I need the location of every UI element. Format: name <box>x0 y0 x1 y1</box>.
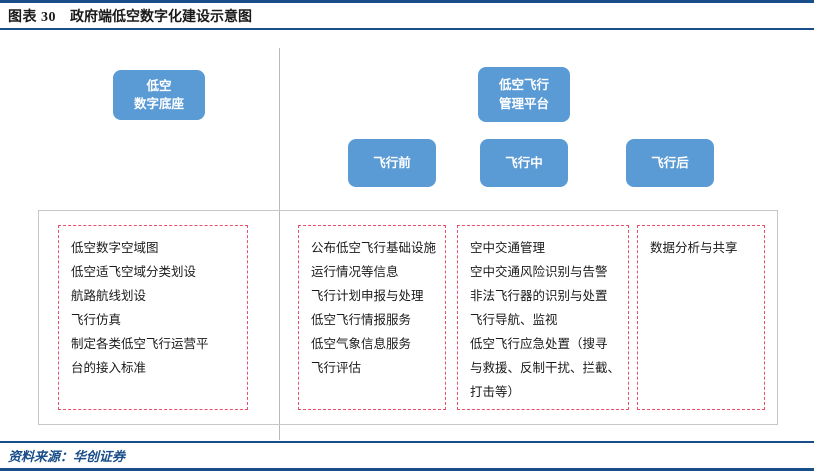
list-item: 低空适飞空域分类划设 <box>71 260 237 284</box>
node-low-altitude-digital-base[interactable]: 低空 数字底座 <box>113 70 205 120</box>
list-item: 运行情况等信息 <box>311 260 435 284</box>
list-item: 打击等） <box>470 380 618 404</box>
node-line: 数字底座 <box>134 95 184 113</box>
list-item: 航路航线划设 <box>71 284 237 308</box>
list-item: 飞行仿真 <box>71 308 237 332</box>
figure-title-bar: 图表 30 政府端低空数字化建设示意图 <box>0 0 814 30</box>
figure-page: 图表 30 政府端低空数字化建设示意图 低空 数字底座 低空飞行 管理平台 飞行… <box>0 0 814 471</box>
list-item: 空中交通风险识别与告警 <box>470 260 618 284</box>
list-item: 飞行评估 <box>311 356 435 380</box>
source-text: 资料来源：华创证券 <box>8 446 125 465</box>
node-line: 低空飞行 <box>499 76 549 94</box>
list-in-flight-items: 空中交通管理 空中交通风险识别与告警 非法飞行器的识别与处置 飞行导航、监视 低… <box>457 225 629 410</box>
list-item: 空中交通管理 <box>470 236 618 260</box>
list-item: 公布低空飞行基础设施 <box>311 236 435 260</box>
diagram-canvas: 低空 数字底座 低空飞行 管理平台 飞行前 飞行中 飞行后 低空数字空域图 低空… <box>0 30 814 441</box>
list-item: 非法飞行器的识别与处置 <box>470 284 618 308</box>
node-line: 管理平台 <box>499 95 549 113</box>
node-post-flight[interactable]: 飞行后 <box>626 139 714 187</box>
node-in-flight[interactable]: 飞行中 <box>480 139 568 187</box>
list-item: 低空气象信息服务 <box>311 332 435 356</box>
list-item: 台的接入标准 <box>71 356 237 380</box>
list-item: 制定各类低空飞行运营平 <box>71 332 237 356</box>
node-line: 低空 <box>146 77 171 95</box>
figure-number: 图表 30 <box>8 6 56 26</box>
list-item: 与救援、反制干扰、拦截、 <box>470 356 618 380</box>
list-item: 低空飞行情报服务 <box>311 308 435 332</box>
node-pre-flight[interactable]: 飞行前 <box>348 139 436 187</box>
figure-source-bar: 资料来源：华创证券 <box>0 441 814 471</box>
list-item: 低空数字空域图 <box>71 236 237 260</box>
node-line: 飞行后 <box>651 154 689 172</box>
list-item: 数据分析与共享 <box>650 236 754 260</box>
list-item: 飞行导航、监视 <box>470 308 618 332</box>
list-digital-base-items: 低空数字空域图 低空适飞空域分类划设 航路航线划设 飞行仿真 制定各类低空飞行运… <box>58 225 248 410</box>
list-item: 飞行计划申报与处理 <box>311 284 435 308</box>
list-pre-flight-items: 公布低空飞行基础设施 运行情况等信息 飞行计划申报与处理 低空飞行情报服务 低空… <box>298 225 446 410</box>
list-post-flight-items: 数据分析与共享 <box>637 225 765 410</box>
node-line: 飞行中 <box>505 154 543 172</box>
node-flight-management-platform[interactable]: 低空飞行 管理平台 <box>478 67 570 122</box>
node-line: 飞行前 <box>373 154 411 172</box>
list-item: 低空飞行应急处置（搜寻 <box>470 332 618 356</box>
figure-title: 政府端低空数字化建设示意图 <box>70 6 252 26</box>
